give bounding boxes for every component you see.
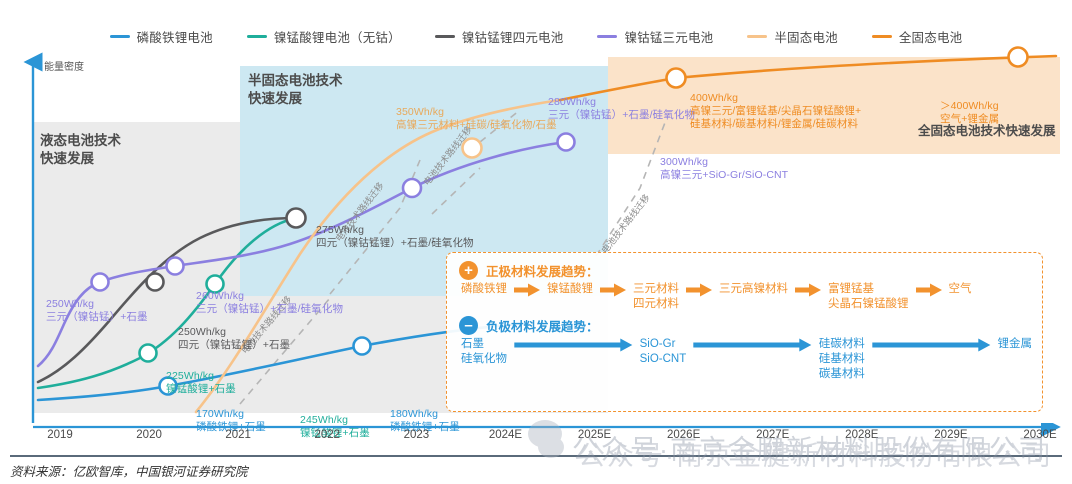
cathode-chain: 磷酸铁锂镍锰酸锂三元材料 四元材料三元高镍材料富锂锰基 尖晶石镍锰酸锂空气: [461, 282, 1032, 312]
legend-label: 全固态电池: [899, 27, 963, 46]
legend-item-semi-solid[interactable]: 半固态电池: [747, 27, 838, 46]
point-ncm-2021: [167, 258, 184, 275]
legend-item-lnmo[interactable]: 镍锰酸锂电池（无钴）: [247, 27, 401, 46]
point-label-ncma-2022: 275Wh/kg 四元（镍钴锰锂）+石墨/硅氧化物: [316, 224, 474, 250]
point-label-ncm-2023: 280Wh/kg 三元（镍钴锰）+石墨/硅氧化物: [548, 96, 695, 122]
point-lnmo-2021: [140, 345, 157, 362]
x-tick-2025E: 2025E: [578, 429, 611, 441]
legend-swatch-icon: [110, 35, 130, 38]
point-ncma-2022: [287, 209, 306, 228]
point-label-all-solid-2030E: ＞400Wh/kg 空气+锂金属: [940, 100, 999, 126]
legend-item-ncma[interactable]: 镍钴锰锂四元电池: [435, 27, 564, 46]
point-label-ncm-2025E: 300Wh/kg 高镍三元+SiO-Gr/SiO-CNT: [660, 156, 788, 182]
cathode-header: + 正极材料发展趋势：: [459, 261, 1032, 280]
x-tick-2023: 2023: [404, 429, 430, 441]
point-allsolid-2030: [1009, 48, 1028, 67]
x-tick-2022: 2022: [314, 429, 340, 441]
chain-node: 锂金属: [998, 337, 1033, 352]
point-label-semi-solid-2024E: 350Wh/kg 高镍三元材料+硅碳/硅氧化物/石墨: [396, 106, 557, 132]
x-tick-2027E: 2027E: [756, 429, 789, 441]
legend-swatch-icon: [247, 35, 267, 38]
legend-swatch-icon: [872, 35, 892, 38]
legend-label: 镍钴锰锂四元电池: [462, 27, 564, 46]
x-tick-2021: 2021: [225, 429, 251, 441]
arrow-right-icon: [916, 282, 942, 297]
source-note: 资料来源：亿欧智库，中国银河证券研究院: [10, 461, 248, 480]
minus-icon: –: [459, 316, 478, 335]
y-axis-label: 能量密度: [44, 58, 84, 73]
legend-swatch-icon: [435, 35, 455, 38]
legend-label: 镍锰酸锂电池（无钴）: [274, 27, 401, 46]
point-label-ncm-2021.6: 260Wh/kg 三元（镍钴锰）+石墨/硅氧化物: [196, 290, 343, 316]
legend-label: 磷酸铁锂电池: [137, 27, 213, 46]
chain-node: 富锂锰基 尖晶石镍锰酸锂: [828, 282, 909, 312]
x-tick-2019: 2019: [47, 429, 73, 441]
point-ncm-2025: [558, 134, 575, 151]
legend-item-lfp[interactable]: 磷酸铁锂电池: [110, 27, 213, 46]
chain-node: 三元高镍材料: [719, 282, 788, 297]
chain-node: 空气: [949, 282, 972, 297]
chain-node: 石墨 硅氧化物: [461, 337, 507, 367]
material-trend-inset: + 正极材料发展趋势： 磷酸铁锂镍锰酸锂三元材料 四元材料三元高镍材料富锂锰基 …: [446, 252, 1043, 412]
plus-icon: +: [459, 261, 478, 280]
arrow-right-icon: [686, 282, 712, 297]
point-label-all-solid-2026E: 400Wh/kg 高镍三元/富锂锰基/尖晶石镍锰酸锂+ 硅基材料/碳基材料/锂金…: [690, 92, 861, 131]
point-label-lnmo-2021: 225Wh/kg 镍锰酸锂+石墨: [166, 370, 236, 396]
cathode-title: 正极材料发展趋势：: [486, 261, 599, 280]
chain-node: 磷酸铁锂: [461, 282, 507, 297]
x-tick-2028E: 2028E: [845, 429, 878, 441]
point-allsolid-2026: [667, 69, 686, 88]
arrow-right-icon: [692, 337, 813, 352]
legend-swatch-icon: [597, 35, 617, 38]
anode-header: – 负极材料发展趋势：: [459, 316, 1032, 335]
arrow-right-icon: [514, 282, 540, 297]
arrow-right-icon: [600, 282, 626, 297]
chart-root: 磷酸铁锂电池镍锰酸锂电池（无钴）镍钴锰锂四元电池镍钴锰三元电池半固态电池全固态电…: [0, 0, 1072, 484]
anode-title: 负极材料发展趋势：: [486, 316, 599, 335]
footer-divider: [10, 455, 1062, 457]
chain-node: SiO-Gr SiO-CNT: [640, 337, 687, 367]
x-tick-2026E: 2026E: [667, 429, 700, 441]
x-axis: 201920202021202220232024E2025E2026E2027E…: [0, 423, 1072, 451]
legend-label: 半固态电池: [774, 27, 838, 46]
arrow-right-icon: [871, 337, 992, 352]
chain-node: 三元材料 四元材料: [633, 282, 679, 312]
chain-node: 硅碳材料 硅基材料 碳基材料: [819, 337, 865, 382]
arrow-right-icon: [795, 282, 821, 297]
anode-chain: 石墨 硅氧化物SiO-Gr SiO-CNT硅碳材料 硅基材料 碳基材料锂金属: [461, 337, 1032, 382]
legend-label: 镍钴锰三元电池: [624, 27, 713, 46]
point-ncm-2023: [403, 179, 421, 197]
x-tick-2020: 2020: [136, 429, 162, 441]
point-label-ncma-2021: 250Wh/kg 四元（镍钴锰锂）+石墨: [178, 326, 290, 352]
point-lfp-2023: [354, 338, 371, 355]
x-tick-2029E: 2029E: [934, 429, 967, 441]
legend-item-all-solid[interactable]: 全固态电池: [872, 27, 963, 46]
chain-node: 镍锰酸锂: [547, 282, 593, 297]
legend-item-ncm[interactable]: 镍钴锰三元电池: [597, 27, 713, 46]
x-tick-2030E: 2030E: [1023, 429, 1056, 441]
legend-swatch-icon: [747, 35, 767, 38]
chart-legend: 磷酸铁锂电池镍锰酸锂电池（无钴）镍钴锰锂四元电池镍钴锰三元电池半固态电池全固态电…: [0, 24, 1072, 48]
x-tick-2024E: 2024E: [489, 429, 522, 441]
arrow-right-icon: [513, 337, 634, 352]
point-label-ncm-2020: 250Wh/kg 三元（镍钴锰）+石墨: [46, 298, 148, 324]
point-ncma-2021: [147, 274, 164, 291]
point-ncm-2020: [92, 274, 109, 291]
